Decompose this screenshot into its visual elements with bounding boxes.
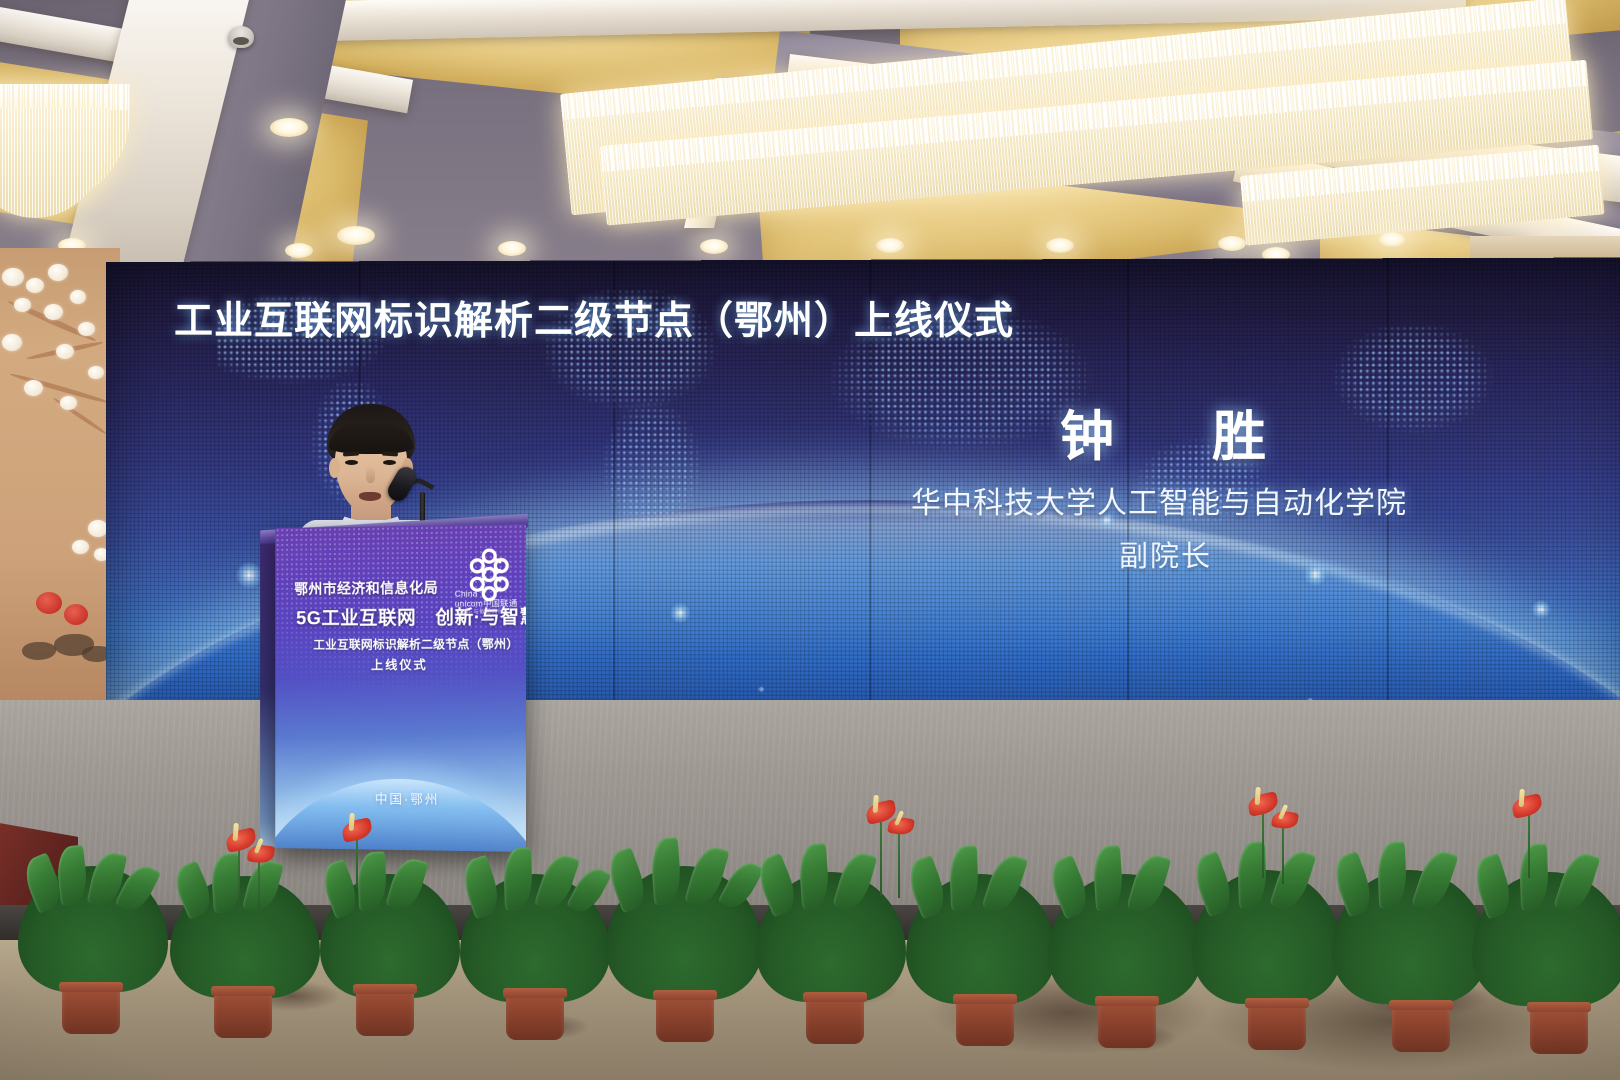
recessed-downlight [337,226,375,245]
speaker-name: 钟 胜 [1060,392,1288,471]
unicom-tagline: 创新·与智慧同行 [459,607,504,615]
terracotta-pot [1248,998,1306,1050]
anthurium-flower [1510,793,1544,819]
recessed-downlight [1378,232,1406,247]
smoke-detector-icon [228,26,254,48]
person-ear [329,458,340,478]
mural-peony [64,604,88,625]
mural-blossom [48,264,68,281]
person-nose [366,466,375,483]
person-eye [383,460,396,465]
recessed-downlight [876,238,904,253]
mural-blossom [60,396,77,410]
podium-subtitle-line2: 上线仪式 [371,654,428,673]
mural-blossom [78,322,95,336]
mural-blossom [56,344,74,359]
recessed-downlight [1218,236,1246,251]
anthurium-flower [887,816,915,836]
mural-blossom [2,334,22,351]
anthurium-flower [340,817,374,843]
event-title: 工业互联网标识解析二级节点（鄂州）上线仪式 [174,290,1014,346]
terracotta-pot [62,982,120,1034]
mural-blossom [88,520,108,537]
terracotta-pot [956,994,1014,1046]
terracotta-pot [356,984,414,1036]
terracotta-pot [214,986,272,1038]
mural-peony [36,592,62,614]
mural-blossom [26,278,44,293]
recessed-downlight [498,241,526,256]
terracotta-pot [1392,1000,1450,1052]
mural-blossom [72,540,89,554]
map-continent [1315,319,1512,441]
mural-blossom [2,268,24,286]
mural-blossom [44,304,63,320]
ballroom-ceiling [0,0,1620,262]
mural-rock [22,642,56,660]
led-glow-dot [1304,563,1327,585]
mural-blossom [88,366,104,379]
speaker-organization: 华中科技大学人工智能与自动化学院 [911,478,1407,522]
led-glow-dot [236,562,262,588]
chandelier-crystal-sparkle [0,84,130,110]
recessed-downlight [270,118,308,137]
led-glow-dot [1532,600,1551,618]
person-mouth [359,492,381,501]
terracotta-pot [806,992,864,1044]
podium-organizer: 鄂州市经济和信息化局 [294,577,438,599]
recessed-downlight [700,239,728,254]
mural-blossom [14,298,31,312]
mural-blossom [70,290,86,304]
led-glow-dot [670,603,690,623]
terracotta-pot [506,988,564,1040]
person-eye [345,460,358,465]
photo-scene: 工业互联网标识解析二级节点（鄂州）上线仪式 钟 胜 华中科技大学人工智能与自动化… [0,0,1620,1080]
anthurium-flower [1271,810,1299,831]
recessed-downlight [1046,238,1074,253]
podium-subtitle-line1: 工业互联网标识解析二级节点（鄂州） [313,634,518,653]
stage-plant-row [0,770,1620,1080]
terracotta-pot [1098,996,1156,1048]
mural-blossom [24,380,43,396]
terracotta-pot [656,990,714,1042]
terracotta-pot [1530,1002,1588,1054]
recessed-downlight [285,243,313,258]
speaker-role: 副院长 [1119,533,1212,575]
